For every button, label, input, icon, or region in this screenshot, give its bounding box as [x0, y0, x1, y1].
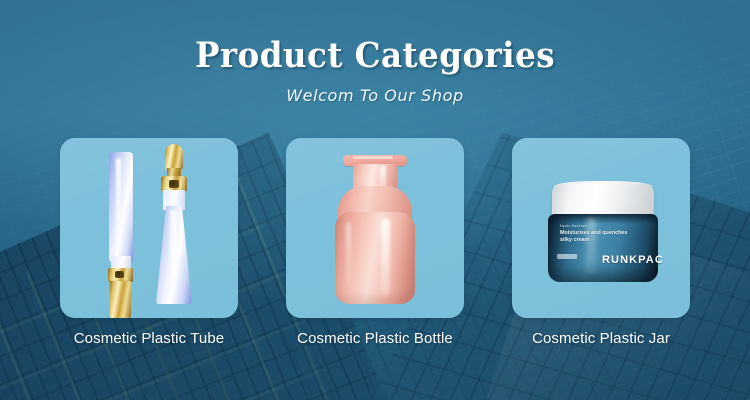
category-caption-tube: Cosmetic Plastic Tube	[60, 330, 238, 347]
jar-label-text: Hydro Essence Moisturizes and quenches s…	[560, 224, 632, 244]
tube-inverted	[106, 152, 134, 304]
product-categories-banner: Product Categories Welcom To Our Shop	[0, 0, 750, 400]
page-subtitle: Welcom To Our Shop	[0, 86, 750, 105]
jar-label-badge	[557, 254, 577, 259]
product-image-cosmetic-plastic-jar: Hydro Essence Moisturizes and quenches s…	[512, 138, 690, 318]
tube-upright	[152, 144, 198, 306]
product-image-cosmetic-plastic-bottle	[286, 138, 464, 318]
jar-label-line3: silky cream	[560, 237, 632, 244]
tube-upright-gold-dome	[165, 144, 183, 170]
category-caption-bottle: Cosmetic Plastic Bottle	[286, 330, 464, 347]
jar-brand-text: RUNKPAC	[602, 254, 664, 266]
page-title: Product Categories	[26, 38, 724, 73]
jar-label-line2: Moisturizes and quenches	[560, 230, 632, 237]
tube-inverted-gold-collar	[108, 268, 133, 282]
jar-lid	[552, 184, 654, 218]
banner-heading-group: Product Categories Welcom To Our Shop	[0, 38, 750, 105]
product-image-cosmetic-plastic-tube	[60, 138, 238, 318]
category-caption-jar: Cosmetic Plastic Jar	[512, 330, 690, 347]
category-card-cosmetic-plastic-bottle[interactable]	[286, 138, 464, 318]
category-card-list: Hydro Essence Moisturizes and quenches s…	[60, 138, 690, 318]
category-card-cosmetic-plastic-tube[interactable]	[60, 138, 238, 318]
jar-label-line1: Hydro Essence	[560, 224, 632, 228]
tube-inverted-body	[109, 152, 133, 262]
category-card-cosmetic-plastic-jar[interactable]: Hydro Essence Moisturizes and quenches s…	[512, 138, 690, 318]
bottle-body	[335, 212, 415, 304]
tube-upright-body	[156, 206, 192, 304]
tube-inverted-gold-cap	[110, 281, 131, 318]
